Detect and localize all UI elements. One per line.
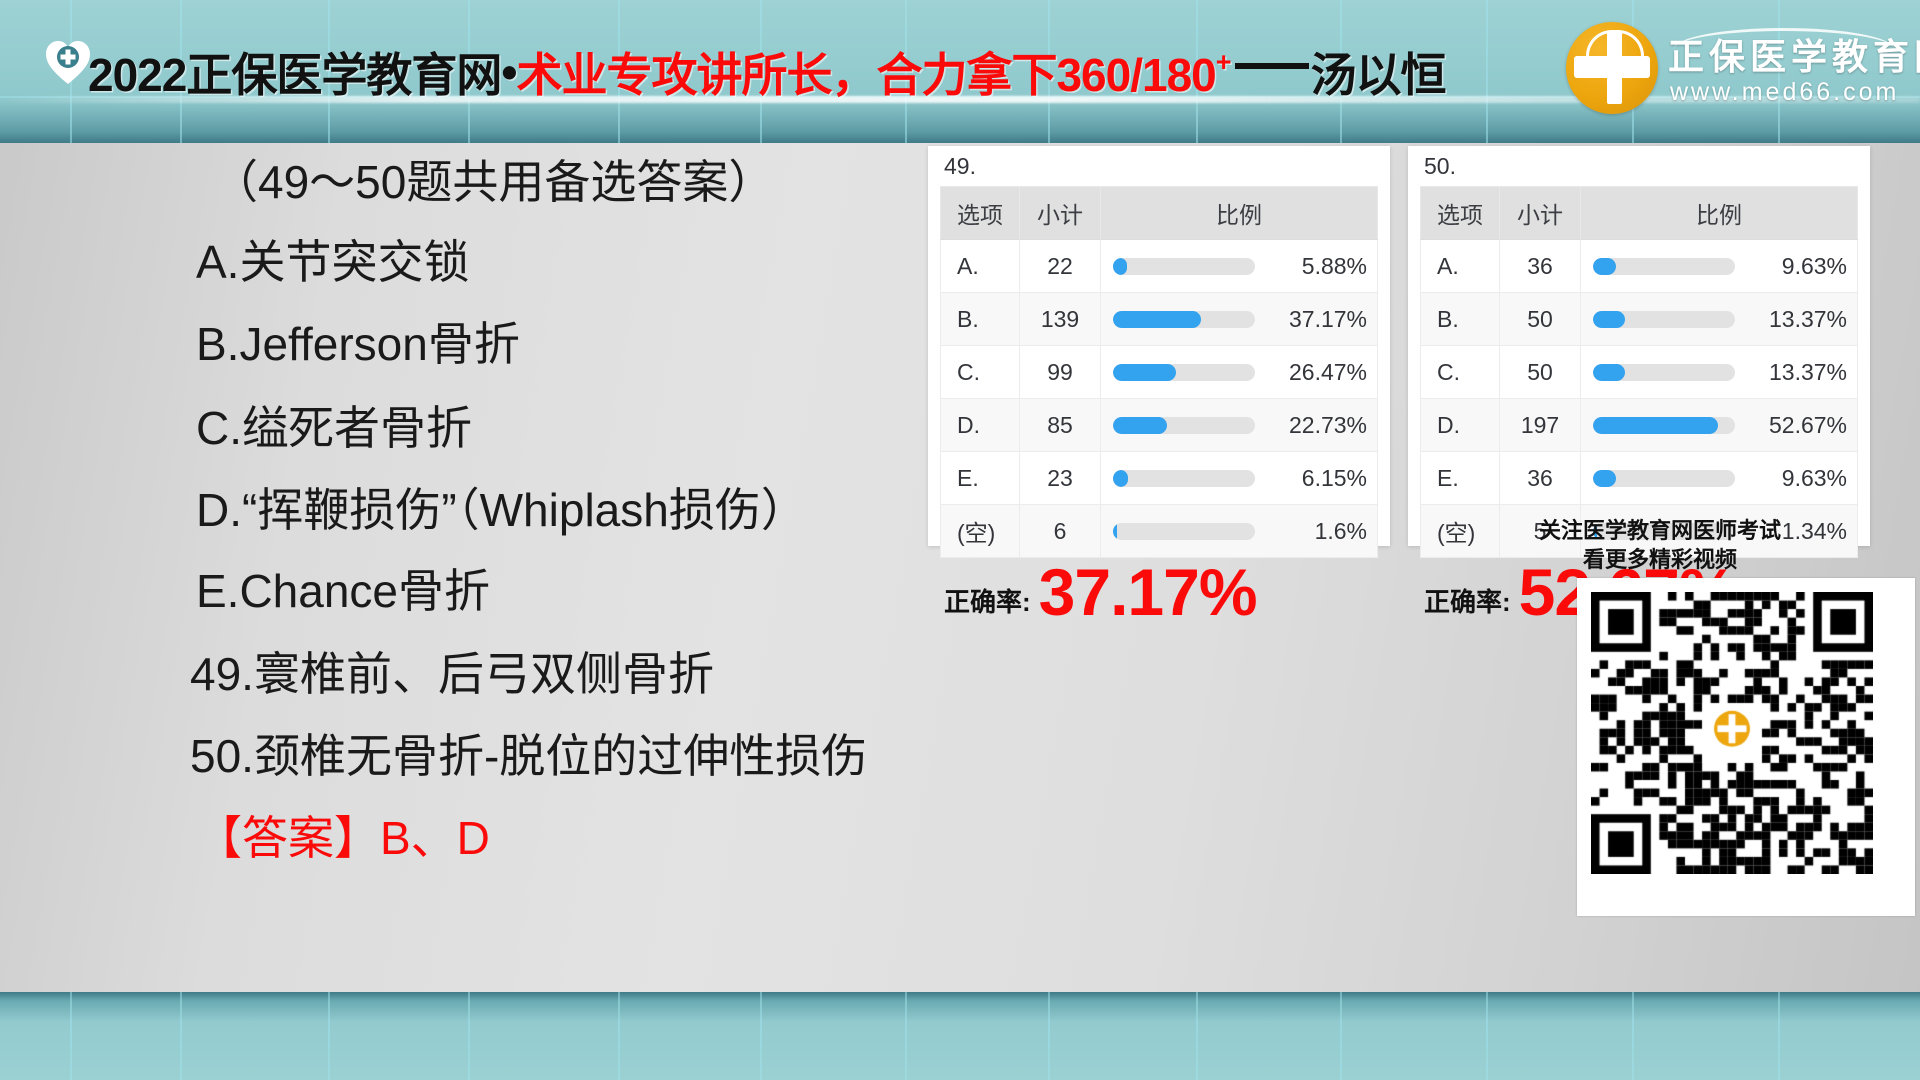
cell-count: 23 xyxy=(1020,452,1101,505)
slide-header: 2022正保医学教育网 • 术业专攻讲所长，合力拿下360/180 + 汤以恒 … xyxy=(0,0,1920,143)
ratio-bar-wrap: 9.63% xyxy=(1593,253,1847,280)
cell-option: C. xyxy=(941,346,1020,399)
footer-grid-line xyxy=(1340,992,1342,1080)
cell-ratio: 6.15% xyxy=(1101,452,1378,505)
answer-label: 【答案】 xyxy=(196,812,380,864)
col-header-ratio: 比例 xyxy=(1101,187,1378,240)
poll-question-number: 49. xyxy=(928,146,1390,186)
ratio-percent-label: 52.67% xyxy=(1743,412,1847,439)
ratio-percent-label: 22.73% xyxy=(1263,412,1367,439)
cell-option: E. xyxy=(1421,452,1500,505)
ratio-bar-wrap: 37.17% xyxy=(1113,306,1367,333)
ratio-bar-track xyxy=(1113,258,1255,275)
cell-ratio: 26.47% xyxy=(1101,346,1378,399)
answer-value: B、D xyxy=(380,812,490,864)
ratio-bar-track xyxy=(1593,311,1735,328)
correct-rate-49: 正确率: 37.17% xyxy=(944,554,1257,630)
cell-count: 85 xyxy=(1020,399,1101,452)
table-row: A.225.88% xyxy=(941,240,1378,293)
footer-grid-line xyxy=(1196,992,1198,1080)
cell-ratio: 37.17% xyxy=(1101,293,1378,346)
title-bullet: • xyxy=(501,45,516,99)
ratio-percent-label: 13.37% xyxy=(1743,306,1847,333)
poll-table-50: 选项 小计 比例 A.369.63%B.5013.37%C.5013.37%D.… xyxy=(1420,186,1858,558)
qr-caption-line1: 关注医学教育网医师考试 xyxy=(1490,516,1830,545)
title-superscript: + xyxy=(1216,47,1231,78)
slide-canvas: 2022正保医学教育网 • 术业专攻讲所长，合力拿下360/180 + 汤以恒 … xyxy=(0,0,1920,1080)
cell-ratio: 13.37% xyxy=(1581,293,1858,346)
shared-answer-header: （49～50题共用备选答案） xyxy=(212,159,774,205)
header-grid-line xyxy=(1486,0,1488,143)
ratio-bar-wrap: 22.73% xyxy=(1113,412,1367,439)
col-header-count: 小计 xyxy=(1020,187,1101,240)
cell-ratio: 1.6% xyxy=(1101,505,1378,558)
table-row: A.369.63% xyxy=(1421,240,1858,293)
footer-grid-line xyxy=(70,992,72,1080)
ratio-bar-wrap: 6.15% xyxy=(1113,465,1367,492)
ratio-bar-wrap: 26.47% xyxy=(1113,359,1367,386)
answer-line: 【答案】B、D xyxy=(196,815,490,861)
cell-ratio: 13.37% xyxy=(1581,346,1858,399)
col-header-option: 选项 xyxy=(1421,187,1500,240)
ratio-bar-track xyxy=(1113,470,1255,487)
footer-grid-line xyxy=(905,992,907,1080)
ratio-bar-track xyxy=(1593,417,1735,434)
cross-circle-logo-icon xyxy=(1566,22,1658,114)
ratio-bar-fill xyxy=(1113,311,1201,328)
cell-count: 6 xyxy=(1020,505,1101,558)
ratio-bar-wrap: 5.88% xyxy=(1113,253,1367,280)
option-a: A.关节突交锁 xyxy=(196,239,469,285)
ratio-bar-fill xyxy=(1113,258,1127,275)
table-row: D.19752.67% xyxy=(1421,399,1858,452)
cell-option: A. xyxy=(1421,240,1500,293)
col-header-count: 小计 xyxy=(1500,187,1581,240)
ratio-bar-track xyxy=(1593,470,1735,487)
footer-grid-line xyxy=(1048,992,1050,1080)
ratio-bar-wrap: 1.6% xyxy=(1113,518,1367,545)
ratio-percent-label: 1.6% xyxy=(1263,518,1367,545)
cell-option: D. xyxy=(1421,399,1500,452)
cell-ratio: 22.73% xyxy=(1101,399,1378,452)
table-header-row: 选项 小计 比例 xyxy=(941,187,1378,240)
option-d: D.“挥鞭损伤”（Whiplash损伤） xyxy=(196,487,807,533)
logo-brand-name: 正保医学教育网 xyxy=(1668,28,1920,80)
ratio-bar-wrap: 13.37% xyxy=(1593,359,1847,386)
ratio-percent-label: 37.17% xyxy=(1263,306,1367,333)
option-c: C.缢死者骨折 xyxy=(196,405,472,451)
table-row: B.5013.37% xyxy=(1421,293,1858,346)
logo-site-url: www.med66.com xyxy=(1670,78,1899,107)
footer-grid-line xyxy=(468,992,470,1080)
col-header-ratio: 比例 xyxy=(1581,187,1858,240)
ratio-percent-label: 13.37% xyxy=(1743,359,1847,386)
cell-count: 139 xyxy=(1020,293,1101,346)
table-row: (空)61.6% xyxy=(941,505,1378,558)
cell-option: A. xyxy=(941,240,1020,293)
ratio-bar-fill xyxy=(1593,470,1616,487)
correct-rate-label: 正确率: xyxy=(1424,582,1511,619)
footer-grid-line xyxy=(1486,992,1488,1080)
cell-count: 36 xyxy=(1500,240,1581,293)
poll-card-50: 50. 选项 小计 比例 A.369.63%B.5013.37%C.5013.3… xyxy=(1408,146,1870,546)
footer-grid-line xyxy=(1632,992,1634,1080)
cell-count: 99 xyxy=(1020,346,1101,399)
ratio-percent-label: 9.63% xyxy=(1743,253,1847,280)
qr-caption-line2: 看更多精彩视频 xyxy=(1490,545,1830,574)
footer-grid-line xyxy=(1778,992,1780,1080)
title-author-text: 汤以恒 xyxy=(1311,39,1446,105)
poll-table-49: 选项 小计 比例 A.225.88%B.13937.17%C.9926.47%D… xyxy=(940,186,1378,558)
ratio-bar-track xyxy=(1593,364,1735,381)
slide-footer xyxy=(0,992,1920,1080)
cell-count: 36 xyxy=(1500,452,1581,505)
cell-count: 50 xyxy=(1500,293,1581,346)
cell-count: 50 xyxy=(1500,346,1581,399)
ratio-bar-track xyxy=(1593,258,1735,275)
header-title: 2022正保医学教育网 • 术业专攻讲所长，合力拿下360/180 + 汤以恒 xyxy=(88,41,1446,103)
option-b: B.Jefferson骨折 xyxy=(196,321,520,367)
logo-cross-horizontal xyxy=(1574,56,1650,78)
qr-code-icon[interactable] xyxy=(1577,578,1915,916)
question-stem-50: 50.颈椎无骨折-脱位的过伸性损伤 xyxy=(190,733,867,779)
footer-grid-line xyxy=(180,992,182,1080)
cell-option: (空) xyxy=(1421,505,1500,558)
ratio-bar-fill xyxy=(1113,364,1176,381)
cell-option: C. xyxy=(1421,346,1500,399)
option-e: E.Chance骨折 xyxy=(196,568,490,614)
cell-option: B. xyxy=(1421,293,1500,346)
title-red-text: 术业专攻讲所长，合力拿下360/180 xyxy=(516,39,1215,105)
ratio-bar-fill xyxy=(1593,258,1616,275)
cell-ratio: 52.67% xyxy=(1581,399,1858,452)
table-row: C.9926.47% xyxy=(941,346,1378,399)
title-year-text: 2022正保医学教育网 xyxy=(88,39,501,105)
cell-option: D. xyxy=(941,399,1020,452)
cell-count: 22 xyxy=(1020,240,1101,293)
ratio-bar-track xyxy=(1113,523,1255,540)
ratio-bar-fill xyxy=(1113,470,1128,487)
ratio-bar-track xyxy=(1113,417,1255,434)
qr-caption: 关注医学教育网医师考试 看更多精彩视频 xyxy=(1490,516,1830,575)
table-row: B.13937.17% xyxy=(941,293,1378,346)
brand-logo[interactable]: 正保医学教育网 www.med66.com xyxy=(1538,16,1898,120)
ratio-bar-fill xyxy=(1113,523,1117,540)
qr-code-canvas xyxy=(1591,592,1873,874)
ratio-percent-label: 5.88% xyxy=(1263,253,1367,280)
correct-rate-value: 37.17% xyxy=(1039,554,1257,630)
poll-body-49: A.225.88%B.13937.17%C.9926.47%D.8522.73%… xyxy=(941,240,1378,558)
cell-ratio: 9.63% xyxy=(1581,452,1858,505)
poll-body-50: A.369.63%B.5013.37%C.5013.37%D.19752.67%… xyxy=(1421,240,1858,558)
ratio-bar-track xyxy=(1113,311,1255,328)
title-dash xyxy=(1235,63,1309,69)
cell-option: (空) xyxy=(941,505,1020,558)
cell-option: B. xyxy=(941,293,1020,346)
ratio-bar-fill xyxy=(1593,364,1625,381)
ratio-bar-fill xyxy=(1593,417,1718,434)
col-header-option: 选项 xyxy=(941,187,1020,240)
cell-ratio: 5.88% xyxy=(1101,240,1378,293)
question-stem-49: 49.寰椎前、后弓双侧骨折 xyxy=(190,651,714,697)
ratio-bar-wrap: 9.63% xyxy=(1593,465,1847,492)
correct-rate-label: 正确率: xyxy=(944,582,1031,619)
ratio-bar-track xyxy=(1113,364,1255,381)
footer-grid-line xyxy=(328,992,330,1080)
table-header-row: 选项 小计 比例 xyxy=(1421,187,1858,240)
ratio-bar-fill xyxy=(1593,311,1625,328)
footer-grid-line xyxy=(760,992,762,1080)
ratio-bar-fill xyxy=(1113,417,1167,434)
table-row: C.5013.37% xyxy=(1421,346,1858,399)
table-row: D.8522.73% xyxy=(941,399,1378,452)
ratio-bar-wrap: 13.37% xyxy=(1593,306,1847,333)
ratio-percent-label: 9.63% xyxy=(1743,465,1847,492)
ratio-percent-label: 26.47% xyxy=(1263,359,1367,386)
heart-plus-icon xyxy=(44,40,92,86)
cell-count: 197 xyxy=(1500,399,1581,452)
ratio-bar-wrap: 52.67% xyxy=(1593,412,1847,439)
poll-card-49: 49. 选项 小计 比例 A.225.88%B.13937.17%C.9926.… xyxy=(928,146,1390,546)
table-row: E.369.63% xyxy=(1421,452,1858,505)
table-row: E.236.15% xyxy=(941,452,1378,505)
cell-option: E. xyxy=(941,452,1020,505)
footer-grid-line xyxy=(618,992,620,1080)
poll-question-number: 50. xyxy=(1408,146,1870,186)
ratio-percent-label: 6.15% xyxy=(1263,465,1367,492)
cell-ratio: 9.63% xyxy=(1581,240,1858,293)
